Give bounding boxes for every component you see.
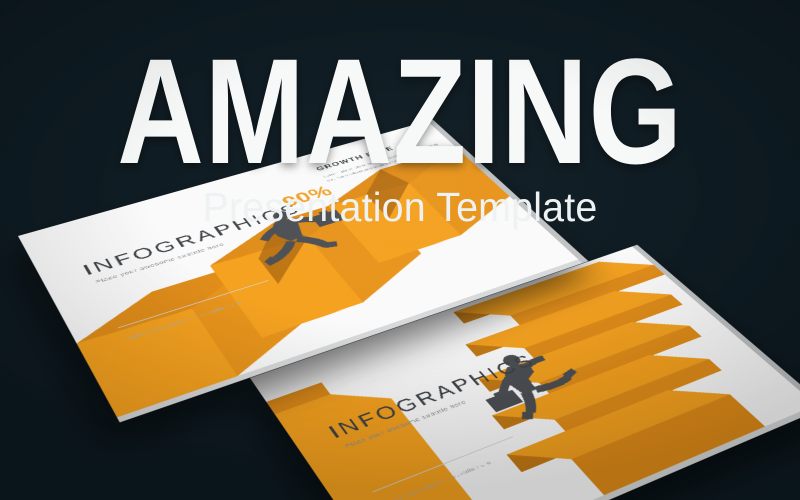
page-subtitle: Presentation Template [16,184,784,230]
slide-two-title: INFOGRAPHICS [324,351,540,443]
slide-one-divider [118,280,269,328]
page-title: AMAZING [80,36,720,186]
presentation-template-hero-image: INFOGRAPHICS Place your awesome subtitle… [0,0,800,500]
